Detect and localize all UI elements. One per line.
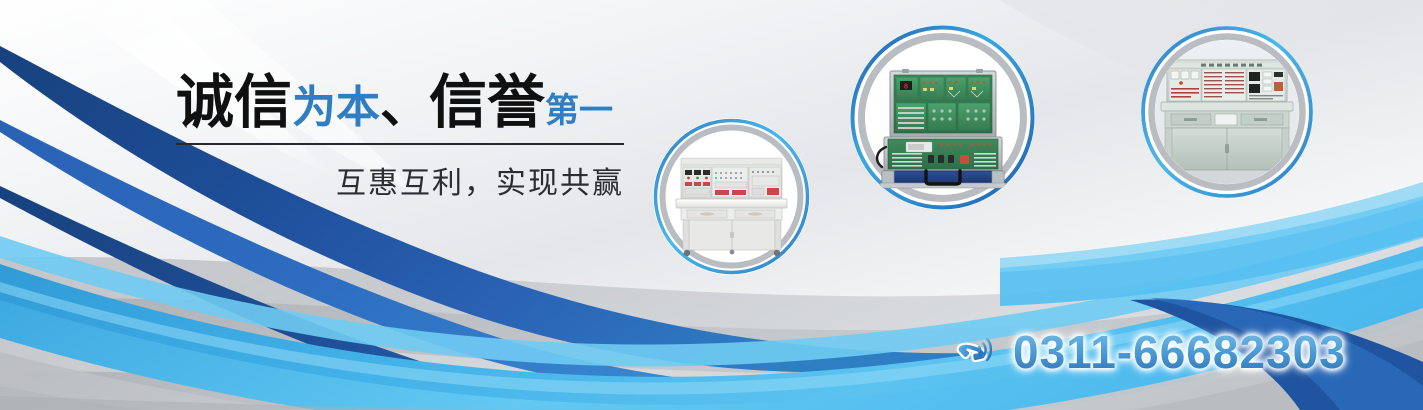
headline-part2: 为本 — [292, 83, 380, 132]
product-circle-1[interactable] — [653, 118, 810, 275]
headline-divider — [176, 143, 624, 145]
headline-block: 诚信为本、信誉第一 — [176, 74, 636, 132]
product-circle-2[interactable]: 8 — [850, 25, 1035, 210]
headline: 诚信为本、信誉第一 — [176, 74, 636, 132]
promo-banner: 诚信为本、信誉第一 互惠互利，实现共赢 — [0, 0, 1423, 410]
product-image-electrical-training-workbench — [653, 118, 810, 275]
svg-text:8: 8 — [904, 83, 908, 91]
headline-part4: 第一 — [545, 92, 613, 130]
product-image-electrical-machine-test-bench — [1141, 26, 1313, 198]
headline-part3: 信誉 — [429, 70, 545, 135]
headline-punctuation: 、 — [380, 77, 429, 133]
phone-number[interactable]: 0311-66682303 — [1013, 325, 1346, 379]
phone-call-icon — [953, 329, 999, 375]
headline-part1: 诚信 — [176, 70, 292, 135]
subtitle: 互惠互利，实现共赢 — [176, 158, 624, 202]
product-image-portable-electronics-training-case: 8 — [850, 25, 1035, 210]
product-circle-3[interactable] — [1141, 26, 1313, 198]
contact-block[interactable]: 0311-66682303 — [953, 325, 1346, 379]
